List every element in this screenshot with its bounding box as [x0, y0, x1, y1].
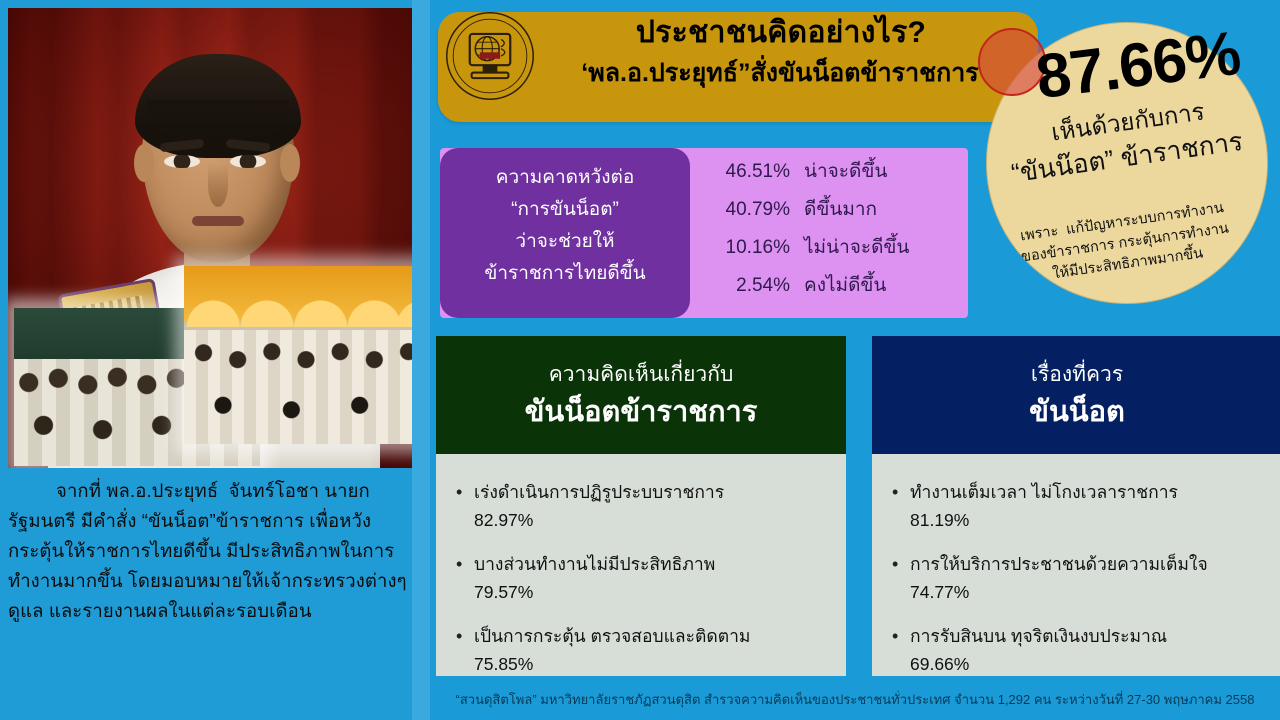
left-column: จากที่ พล.อ.ประยุทธ์ จันทร์โอชา นายกรัฐม… [0, 0, 430, 720]
mouth [192, 216, 244, 226]
bullet-text: เป็นการกระตุ้น ตรวจสอบและติดตาม [474, 626, 750, 646]
panel-topics: เรื่องที่ควร ขันน็อต • ทำงานเต็มเวลา ไม่… [872, 336, 1280, 676]
panel-topics-header-line2: ขันน็อต [872, 390, 1280, 434]
bullet-text: เร่งดำเนินการปฏิรูประบบราชการ [474, 482, 724, 502]
left-edge-band [412, 0, 430, 720]
panel-opinions-header: ความคิดเห็นเกี่ยวกับ ขันน็อตข้าราชการ [436, 336, 846, 454]
expectation-label: ไม่น่าจะดีขึ้น [804, 232, 909, 262]
expectation-percent: 46.51% [698, 161, 804, 183]
bullet-percent: 69.66% [910, 654, 969, 674]
panel-topics-header-line1: เรื่องที่ควร [872, 360, 1280, 390]
expectation-title: ความคาดหวังต่อ “การขันน็อต” ว่าจะช่วยให้… [440, 148, 690, 318]
source-footer: “สวนดุสิตโพล” มหาวิทยาลัยราชภัฏสวนดุสิต … [430, 688, 1280, 712]
expectation-label: คงไม่ดีขึ้น [804, 270, 886, 300]
bullet-percent: 75.85% [474, 654, 533, 674]
bullet-text: บางส่วนทำงานไม่มีประสิทธิภาพ [474, 554, 715, 574]
bullet-text: การให้บริการประชาชนด้วยความเต็มใจ [910, 554, 1208, 574]
bullet-dot-icon: • [456, 550, 474, 606]
panel-opinions-body: • เร่งดำเนินการปฏิรูประบบราชการ 82.97% •… [436, 454, 846, 678]
panel-opinions-header-line2: ขันน็อตข้าราชการ [436, 390, 846, 434]
bullet-dot-icon: • [456, 622, 474, 678]
hair [135, 54, 301, 158]
bullet-percent: 81.19% [910, 510, 969, 530]
list-item: • ทำงานเต็มเวลา ไม่โกงเวลาราชการ 81.19% [892, 478, 1264, 534]
list-item: • เป็นการกระตุ้น ตรวจสอบและติดตาม 75.85% [456, 622, 828, 678]
poster-subtitle: ‘พล.อ.ประยุทธ์”สั่งขันน็อตข้าราชการ [534, 56, 1026, 90]
poster-title: ประชาชนคิดอย่างไร? [538, 14, 1024, 52]
expectation-rows: 46.51% น่าจะดีขึ้น 40.79% ดีขึ้นมาก 10.1… [698, 156, 964, 308]
bullet-percent: 79.57% [474, 582, 533, 602]
portrait-photo [8, 8, 420, 468]
panel-topics-body: • ทำงานเต็มเวลา ไม่โกงเวลาราชการ 81.19% … [872, 454, 1280, 678]
panel-opinions: ความคิดเห็นเกี่ยวกับ ขันน็อตข้าราชการ • … [436, 336, 846, 676]
expectation-row: 46.51% น่าจะดีขึ้น [698, 156, 964, 194]
infographic-poster: จากที่ พล.อ.ประยุทธ์ จันทร์โอชา นายกรัฐม… [0, 0, 1280, 720]
expectation-label: น่าจะดีขึ้น [804, 156, 887, 186]
expectation-row: 2.54% คงไม่ดีขึ้น [698, 270, 964, 308]
intro-caption: จากที่ พล.อ.ประยุทธ์ จันทร์โอชา นายกรัฐม… [8, 476, 412, 626]
expectation-percent: 40.79% [698, 199, 804, 221]
bullet-dot-icon: • [456, 478, 474, 534]
bullet-dot-icon: • [892, 478, 910, 534]
bullet-dot-icon: • [892, 622, 910, 678]
list-item: • การให้บริการประชาชนด้วยความเต็มใจ 74.7… [892, 550, 1264, 606]
eye-right [230, 155, 266, 168]
ear-right [280, 144, 300, 182]
expectation-percent: 2.54% [698, 275, 804, 297]
bullet-percent: 74.77% [910, 582, 969, 602]
expectation-row: 40.79% ดีขึ้นมาก [698, 194, 964, 232]
expectation-percent: 10.16% [698, 237, 804, 259]
ear-left [134, 144, 154, 182]
expectation-label: ดีขึ้นมาก [804, 194, 877, 224]
expectation-row: 10.16% ไม่น่าจะดีขึ้น [698, 232, 964, 270]
bullet-percent: 82.97% [474, 510, 533, 530]
panel-topics-header: เรื่องที่ควร ขันน็อต [872, 336, 1280, 454]
university-seal-icon [444, 10, 536, 102]
bullet-text: การรับสินบน ทุจริตเงินงบประมาณ [910, 626, 1167, 646]
nose [208, 163, 228, 207]
list-item: • การรับสินบน ทุจริตเงินงบประมาณ 69.66% [892, 622, 1264, 678]
eye-left [164, 155, 200, 168]
right-column: ประชาชนคิดอย่างไร? ‘พล.อ.ประยุทธ์”สั่งขั… [430, 0, 1280, 720]
bullet-dot-icon: • [892, 550, 910, 606]
bullet-text: ทำงานเต็มเวลา ไม่โกงเวลาราชการ [910, 482, 1178, 502]
inset-photo-ceremony [184, 266, 420, 444]
list-item: • บางส่วนทำงานไม่มีประสิทธิภาพ 79.57% [456, 550, 828, 606]
panel-opinions-header-line1: ความคิดเห็นเกี่ยวกับ [436, 360, 846, 390]
crowd-seated [184, 330, 420, 444]
list-item: • เร่งดำเนินการปฏิรูประบบราชการ 82.97% [456, 478, 828, 534]
hall-arches [184, 266, 420, 327]
